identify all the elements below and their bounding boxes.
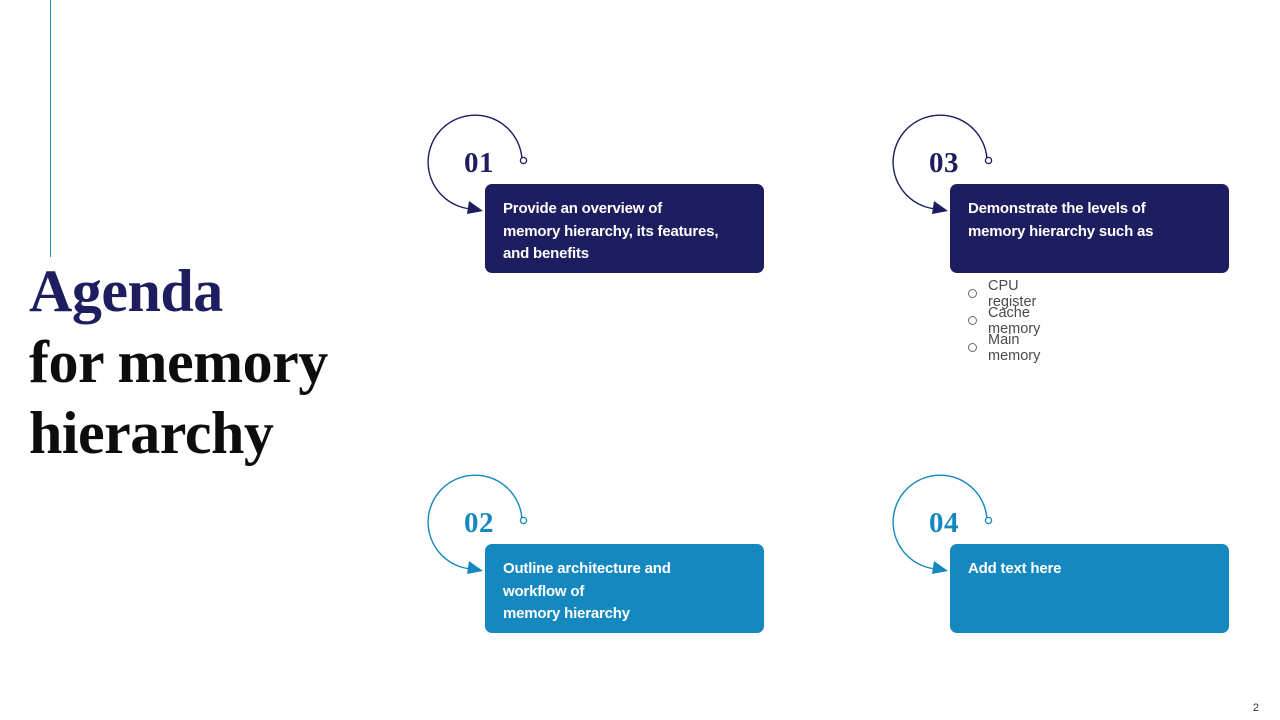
page-title: Agenda for memory hierarchy [29,256,449,469]
list-item: CPU register [968,280,1040,307]
page-title-line-2: for memory hierarchy [29,327,449,469]
list-item: Cache memory [968,307,1040,334]
page-title-line-1: Agenda [29,256,449,327]
agenda-item-box[interactable]: Add text here [950,544,1229,633]
list-item: Main memory [968,334,1040,361]
slide-canvas: Agenda for memory hierarchy 01 Provide a… [0,0,1280,720]
agenda-item-bullet-list: CPU register Cache memory Main memory [968,280,1040,361]
page-number: 2 [1253,702,1259,714]
agenda-item-box[interactable]: Demonstrate the levels of memory hierarc… [950,184,1229,273]
agenda-item-text: Provide an overview of memory hierarchy,… [503,198,752,266]
agenda-item-text: Outline architecture and workflow of mem… [503,558,752,626]
agenda-item-text: Demonstrate the levels of memory hierarc… [968,198,1217,243]
decorative-vertical-rule [50,0,51,257]
bullet-circle-icon [968,289,977,298]
list-item-label: Main memory [988,332,1040,364]
agenda-item-text: Add text here [968,558,1217,581]
agenda-item-box[interactable]: Provide an overview of memory hierarchy,… [485,184,764,273]
bullet-circle-icon [968,343,977,352]
bullet-circle-icon [968,316,977,325]
agenda-item-box[interactable]: Outline architecture and workflow of mem… [485,544,764,633]
